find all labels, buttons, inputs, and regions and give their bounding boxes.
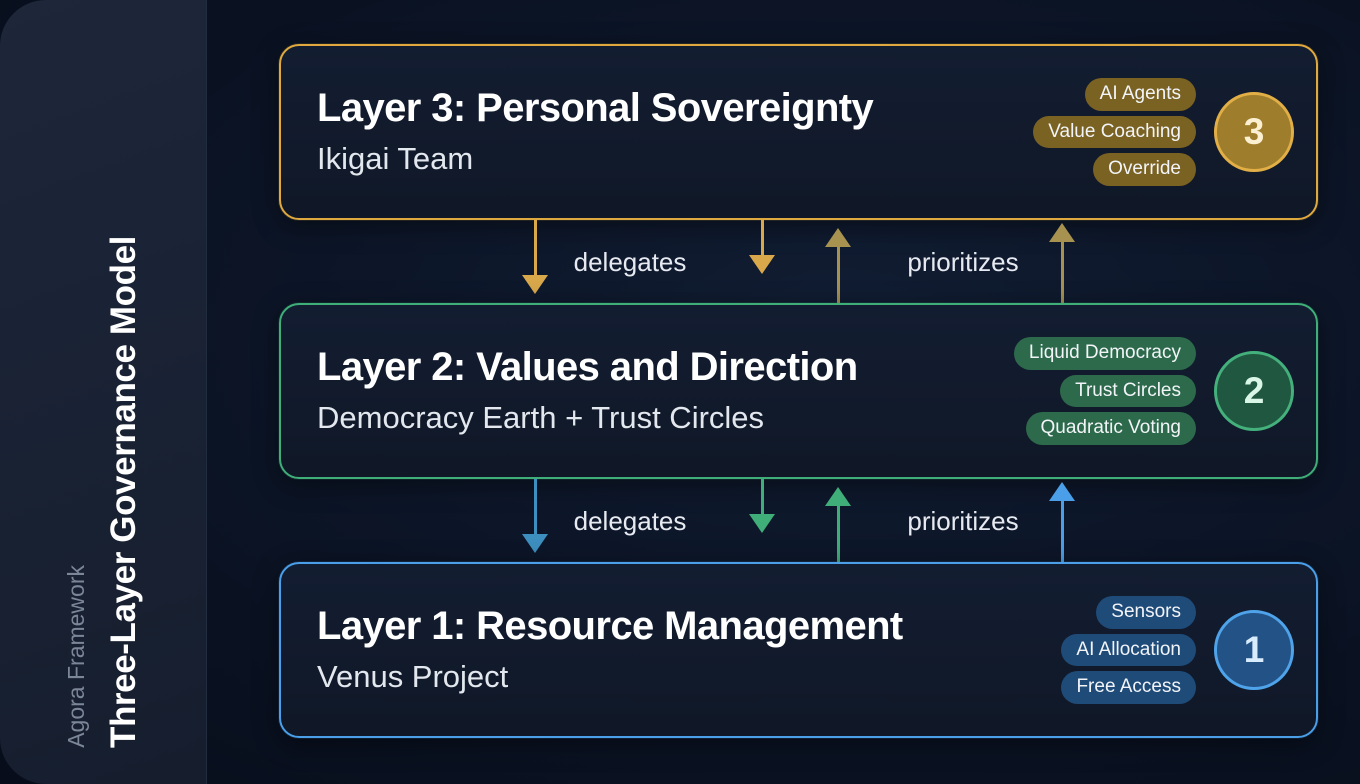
layer-1-tag-0[interactable]: Sensors: [1096, 596, 1196, 629]
connector-label-prioritizes-lower: prioritizes: [907, 506, 1018, 537]
layer-3-tag-2[interactable]: Override: [1093, 153, 1196, 186]
layer-card-1[interactable]: Layer 1: Resource Management Venus Proje…: [279, 562, 1318, 738]
connector-group-2-to-1: delegates prioritizes: [207, 479, 1360, 562]
layer-2-tags: Liquid Democracy Trust Circles Quadratic…: [1014, 337, 1196, 446]
layer-1-title: Layer 1: Resource Management: [317, 605, 1061, 648]
sidebar-panel: Three-Layer Governance Model Agora Frame…: [0, 0, 207, 784]
layer-2-subtitle: Democracy Earth + Trust Circles: [317, 399, 1014, 436]
layer-3-badge: 3: [1214, 92, 1294, 172]
connector-up-head-c: [825, 487, 851, 506]
diagram-subtitle: Agora Framework: [63, 565, 90, 748]
layer-3-subtitle: Ikigai Team: [317, 140, 1033, 177]
connector-down-line-a: [534, 220, 537, 278]
connector-up-line-b: [1061, 240, 1064, 303]
connector-up-line-c: [837, 504, 840, 562]
connector-group-3-to-2: delegates prioritizes: [207, 220, 1360, 303]
connector-down-line-c: [534, 479, 537, 537]
layer-2-tag-2[interactable]: Quadratic Voting: [1026, 412, 1196, 445]
layer-1-tags: Sensors AI Allocation Free Access: [1061, 596, 1196, 705]
layer-3-texts: Layer 3: Personal Sovereignty Ikigai Tea…: [317, 87, 1033, 176]
layer-2-tag-0[interactable]: Liquid Democracy: [1014, 337, 1196, 370]
connector-up-head-d: [1049, 482, 1075, 501]
layer-2-texts: Layer 2: Values and Direction Democracy …: [317, 346, 1014, 435]
connector-down-line-b: [761, 220, 764, 258]
layer-1-subtitle: Venus Project: [317, 658, 1061, 695]
connector-down-line-d: [761, 479, 764, 517]
connector-down-head-b: [749, 255, 775, 274]
connector-up-head-b: [1049, 223, 1075, 242]
layer-1-texts: Layer 1: Resource Management Venus Proje…: [317, 605, 1061, 694]
layers-stage: Layer 3: Personal Sovereignty Ikigai Tea…: [207, 0, 1360, 784]
connector-down-head-a: [522, 275, 548, 294]
layer-1-badge: 1: [1214, 610, 1294, 690]
connector-label-delegates-upper: delegates: [574, 247, 687, 278]
layer-3-tags: AI Agents Value Coaching Override: [1033, 78, 1196, 187]
layer-3-title: Layer 3: Personal Sovereignty: [317, 87, 1033, 130]
connector-down-head-d: [749, 514, 775, 533]
layer-2-title: Layer 2: Values and Direction: [317, 346, 1014, 389]
layer-1-tag-2[interactable]: Free Access: [1061, 671, 1196, 704]
layer-3-tag-1[interactable]: Value Coaching: [1033, 116, 1196, 149]
layer-3-tag-0[interactable]: AI Agents: [1085, 78, 1196, 111]
diagram-title: Three-Layer Governance Model: [104, 236, 144, 748]
layer-2-tag-1[interactable]: Trust Circles: [1060, 375, 1196, 408]
layer-card-2[interactable]: Layer 2: Values and Direction Democracy …: [279, 303, 1318, 479]
connector-down-head-c: [522, 534, 548, 553]
diagram-canvas: Three-Layer Governance Model Agora Frame…: [0, 0, 1360, 784]
sidebar-text-group: Three-Layer Governance Model Agora Frame…: [0, 0, 207, 784]
connector-up-line-a: [837, 245, 840, 303]
layer-1-tag-1[interactable]: AI Allocation: [1061, 634, 1196, 667]
connector-up-line-d: [1061, 499, 1064, 562]
layer-card-3[interactable]: Layer 3: Personal Sovereignty Ikigai Tea…: [279, 44, 1318, 220]
connector-label-delegates-lower: delegates: [574, 506, 687, 537]
connector-label-prioritizes-upper: prioritizes: [907, 247, 1018, 278]
connector-up-head-a: [825, 228, 851, 247]
layer-2-badge: 2: [1214, 351, 1294, 431]
